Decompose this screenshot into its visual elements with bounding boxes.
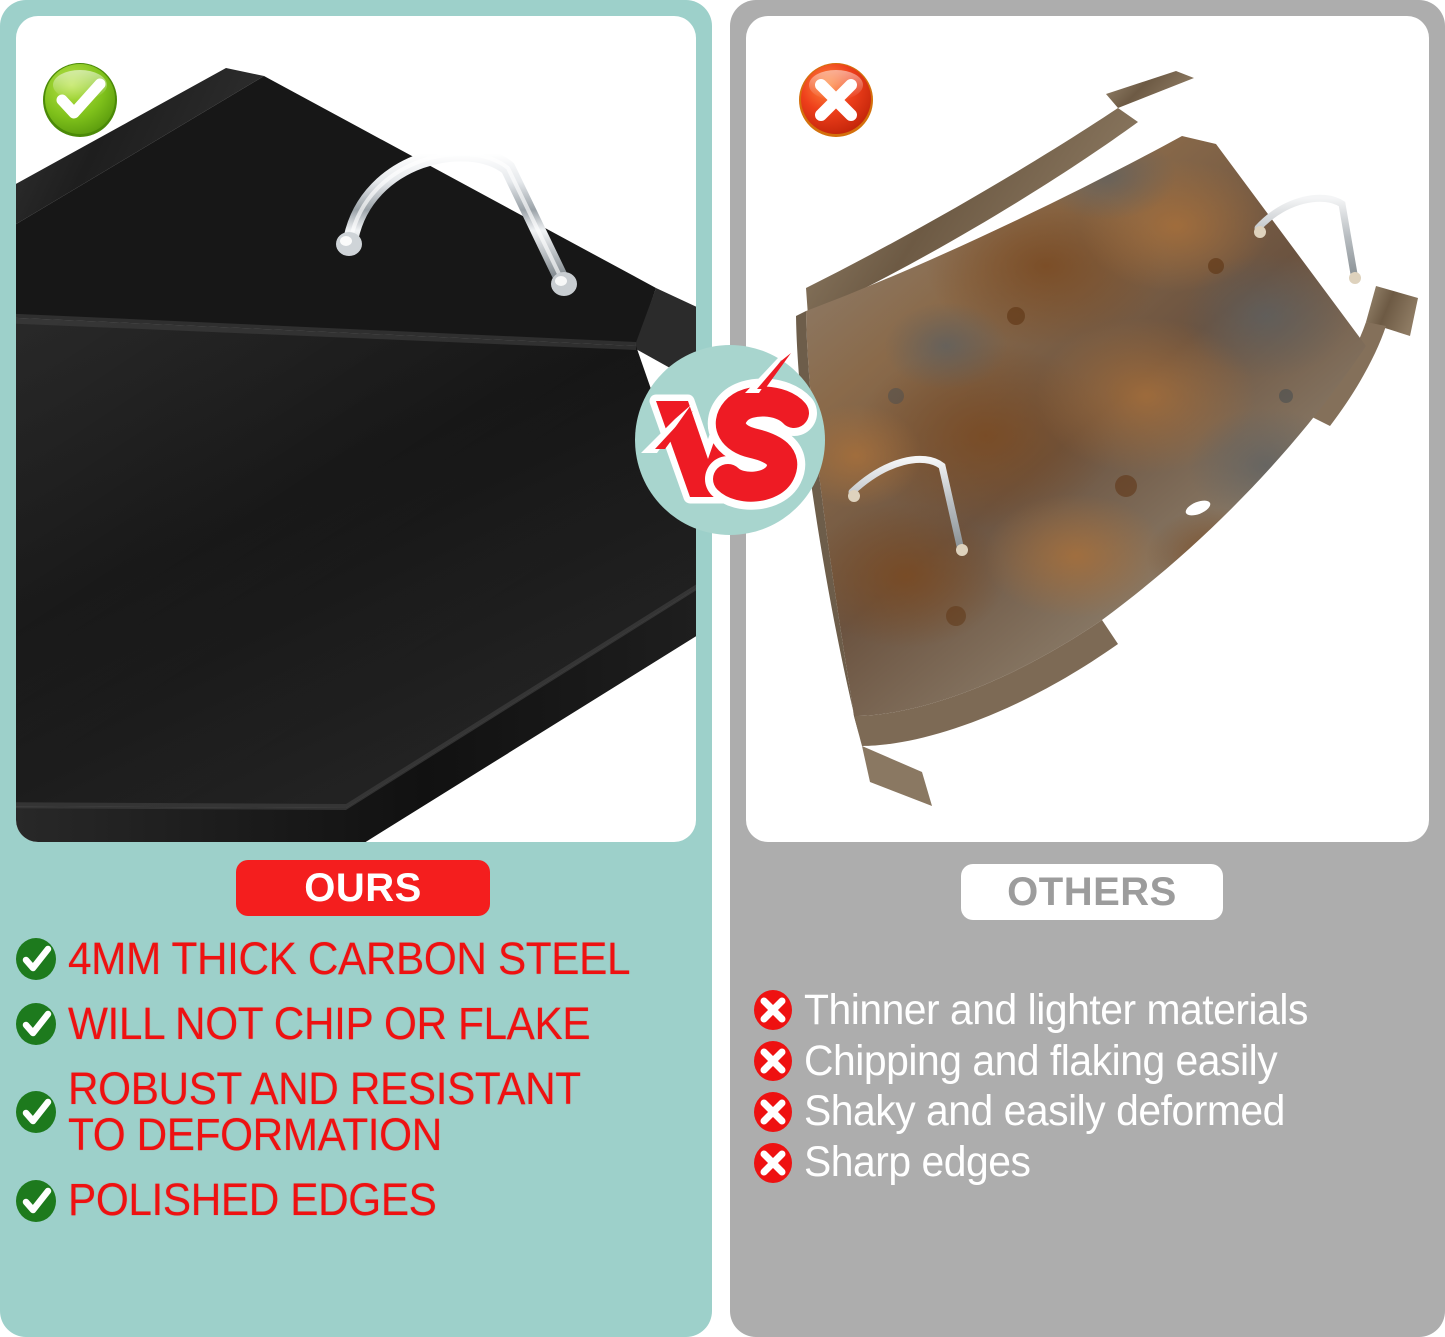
- ours-feature-list: 4MM THICK CARBON STEEL WILL NOT CHIP OR …: [14, 936, 704, 1242]
- left-panel-ours: OURS 4MM THICK CARBON STEEL: [0, 0, 712, 1337]
- list-item-label: ROBUST AND RESISTANT TO DEFORMATION: [68, 1066, 581, 1160]
- others-product-card: [746, 16, 1429, 842]
- list-item-label: Thinner and lighter materials: [804, 988, 1308, 1033]
- list-item: Shaky and easily deformed: [752, 1089, 1442, 1134]
- green-check-badge-icon: [40, 60, 120, 140]
- others-label-pill: OTHERS: [961, 864, 1223, 920]
- ours-label-pill: OURS: [236, 860, 490, 916]
- list-item: WILL NOT CHIP OR FLAKE: [14, 1001, 704, 1048]
- list-item-label: Sharp edges: [804, 1140, 1030, 1185]
- list-item-label: WILL NOT CHIP OR FLAKE: [68, 1001, 590, 1048]
- x-circle-icon: [752, 1142, 794, 1184]
- vs-badge: [631, 341, 829, 539]
- list-item: 4MM THICK CARBON STEEL: [14, 936, 704, 983]
- list-item-label: 4MM THICK CARBON STEEL: [68, 936, 630, 983]
- x-circle-icon: [752, 1091, 794, 1133]
- ours-product-card: [16, 16, 696, 842]
- check-circle-icon: [14, 1002, 58, 1046]
- comparison-infographic: OURS 4MM THICK CARBON STEEL: [0, 0, 1445, 1337]
- check-circle-icon: [14, 937, 58, 981]
- list-item: Chipping and flaking easily: [752, 1039, 1442, 1084]
- check-circle-icon: [14, 1090, 58, 1134]
- list-item: Thinner and lighter materials: [752, 988, 1442, 1033]
- red-x-badge-icon: [796, 60, 876, 140]
- right-panel-others: OTHERS Thinner and lighter materials: [730, 0, 1445, 1337]
- x-circle-icon: [752, 1040, 794, 1082]
- x-circle-icon: [752, 989, 794, 1031]
- list-item: Sharp edges: [752, 1140, 1442, 1185]
- list-item-label: Chipping and flaking easily: [804, 1039, 1277, 1084]
- others-feature-list: Thinner and lighter materials Chipping a…: [752, 988, 1442, 1191]
- check-circle-icon: [14, 1179, 58, 1223]
- list-item-label: POLISHED EDGES: [68, 1177, 437, 1224]
- list-item-label: Shaky and easily deformed: [804, 1089, 1285, 1134]
- list-item: POLISHED EDGES: [14, 1177, 704, 1224]
- list-item: ROBUST AND RESISTANT TO DEFORMATION: [14, 1066, 704, 1160]
